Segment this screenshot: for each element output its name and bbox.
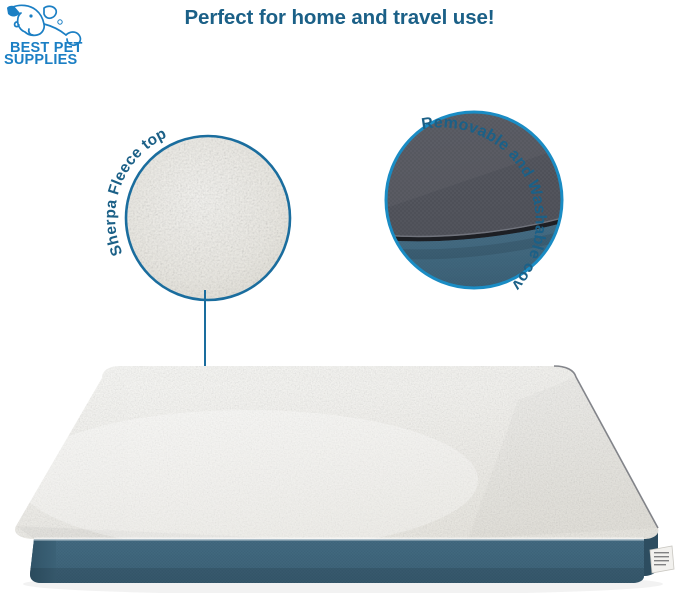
callout-sherpa-fleece: Sherpa Fleece top: [108, 118, 308, 318]
product-dog-bed: [0, 360, 679, 593]
page-title: Perfect for home and travel use!: [0, 6, 679, 30]
infographic-page: BEST PET SUPPLIES Perfect for home and t…: [0, 0, 679, 593]
fleece-swatch: [126, 136, 290, 300]
brand-wordmark: BEST PET SUPPLIES: [4, 40, 83, 66]
care-label-tag: [650, 546, 674, 573]
logo-line-2: SUPPLIES: [4, 52, 77, 66]
bed-sherpa-top: [0, 360, 679, 560]
callout-washable-cover: Removable and Washable cover: [370, 88, 590, 308]
